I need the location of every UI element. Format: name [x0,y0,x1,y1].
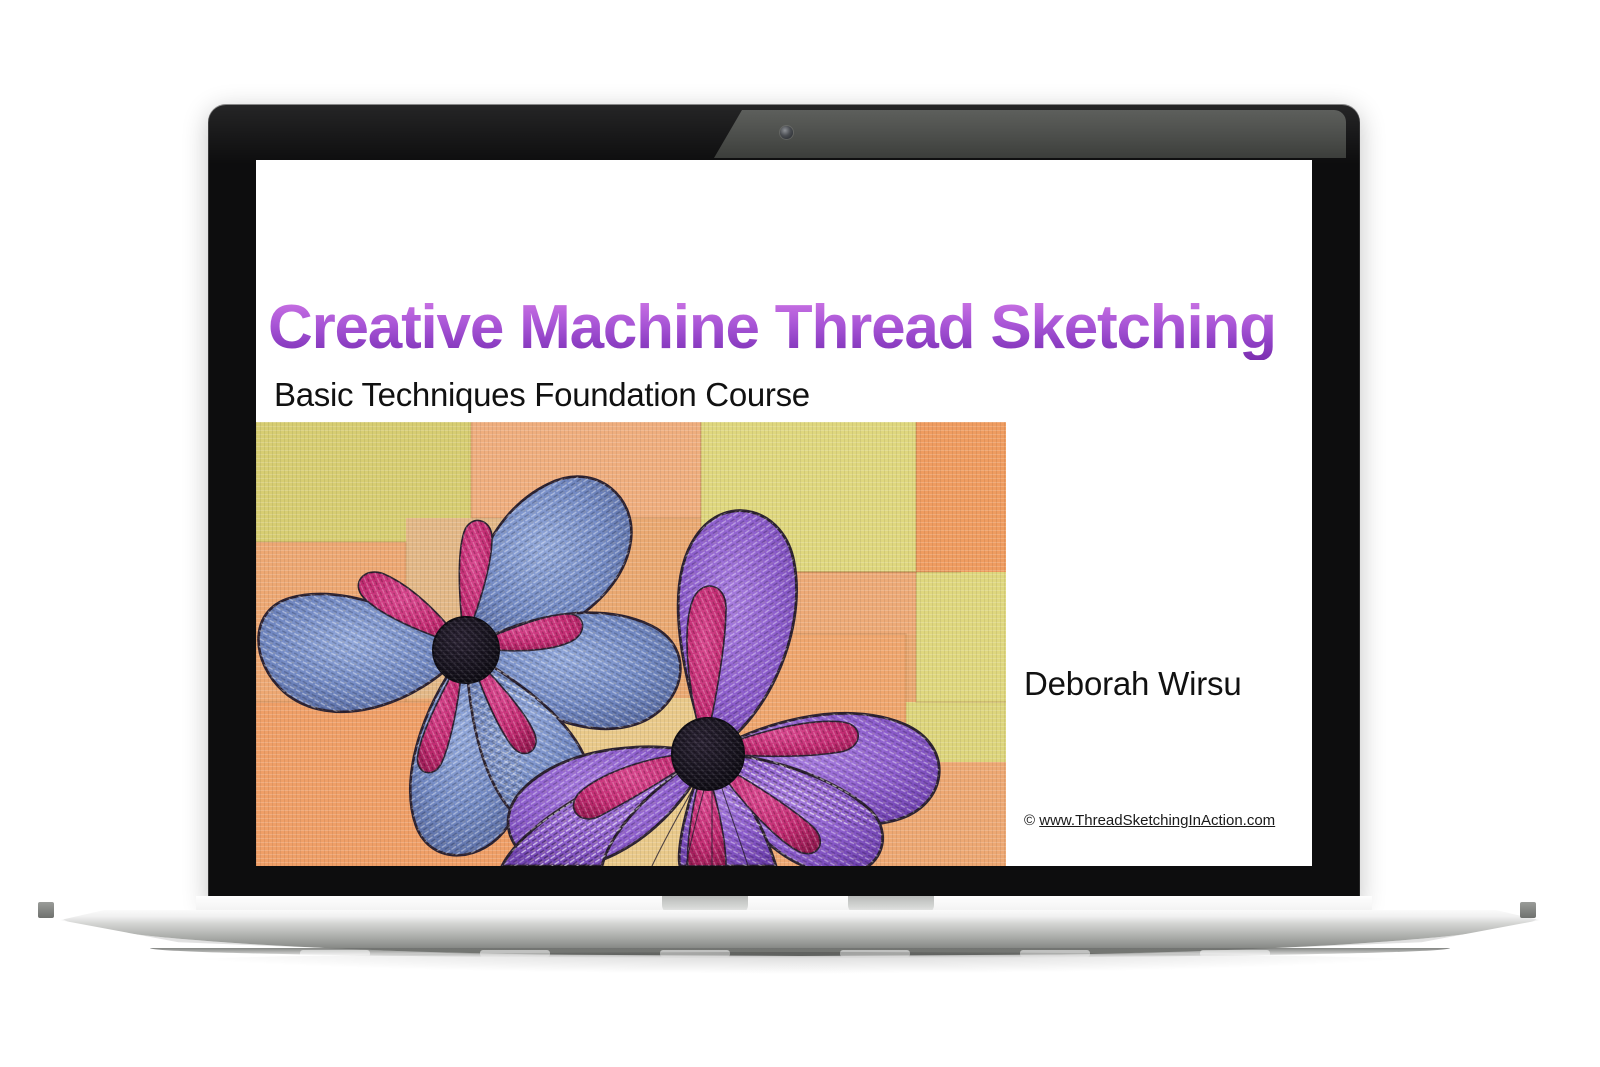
base-edge-tab-right [1520,902,1536,918]
slide-title: Creative Machine Thread Sketching [268,295,1312,360]
base-edge-tab-left [38,902,54,918]
artwork-svg [256,422,1006,866]
copyright-symbol: © [1024,812,1035,829]
embroidered-flowers-photo [256,422,1006,866]
slide-author-name: Deborah Wirsu [1024,665,1241,703]
laptop-device: Creative Machine Thread Sketching Basic … [0,0,1600,1067]
camera-panel [714,110,1346,158]
copyright-url[interactable]: www.ThreadSketchingInAction.com [1039,812,1275,829]
device-ground-shadow [150,952,1450,974]
laptop-screen: Creative Machine Thread Sketching Basic … [256,160,1312,866]
slide-subtitle: Basic Techniques Foundation Course [274,376,810,414]
slide-copyright: © www.ThreadSketchingInAction.com [1024,812,1275,829]
screenshot-stage: Creative Machine Thread Sketching Basic … [0,0,1600,1067]
laptop-lid: Creative Machine Thread Sketching Basic … [208,104,1360,904]
presentation-slide: Creative Machine Thread Sketching Basic … [256,160,1312,866]
webcam-icon [780,126,793,139]
